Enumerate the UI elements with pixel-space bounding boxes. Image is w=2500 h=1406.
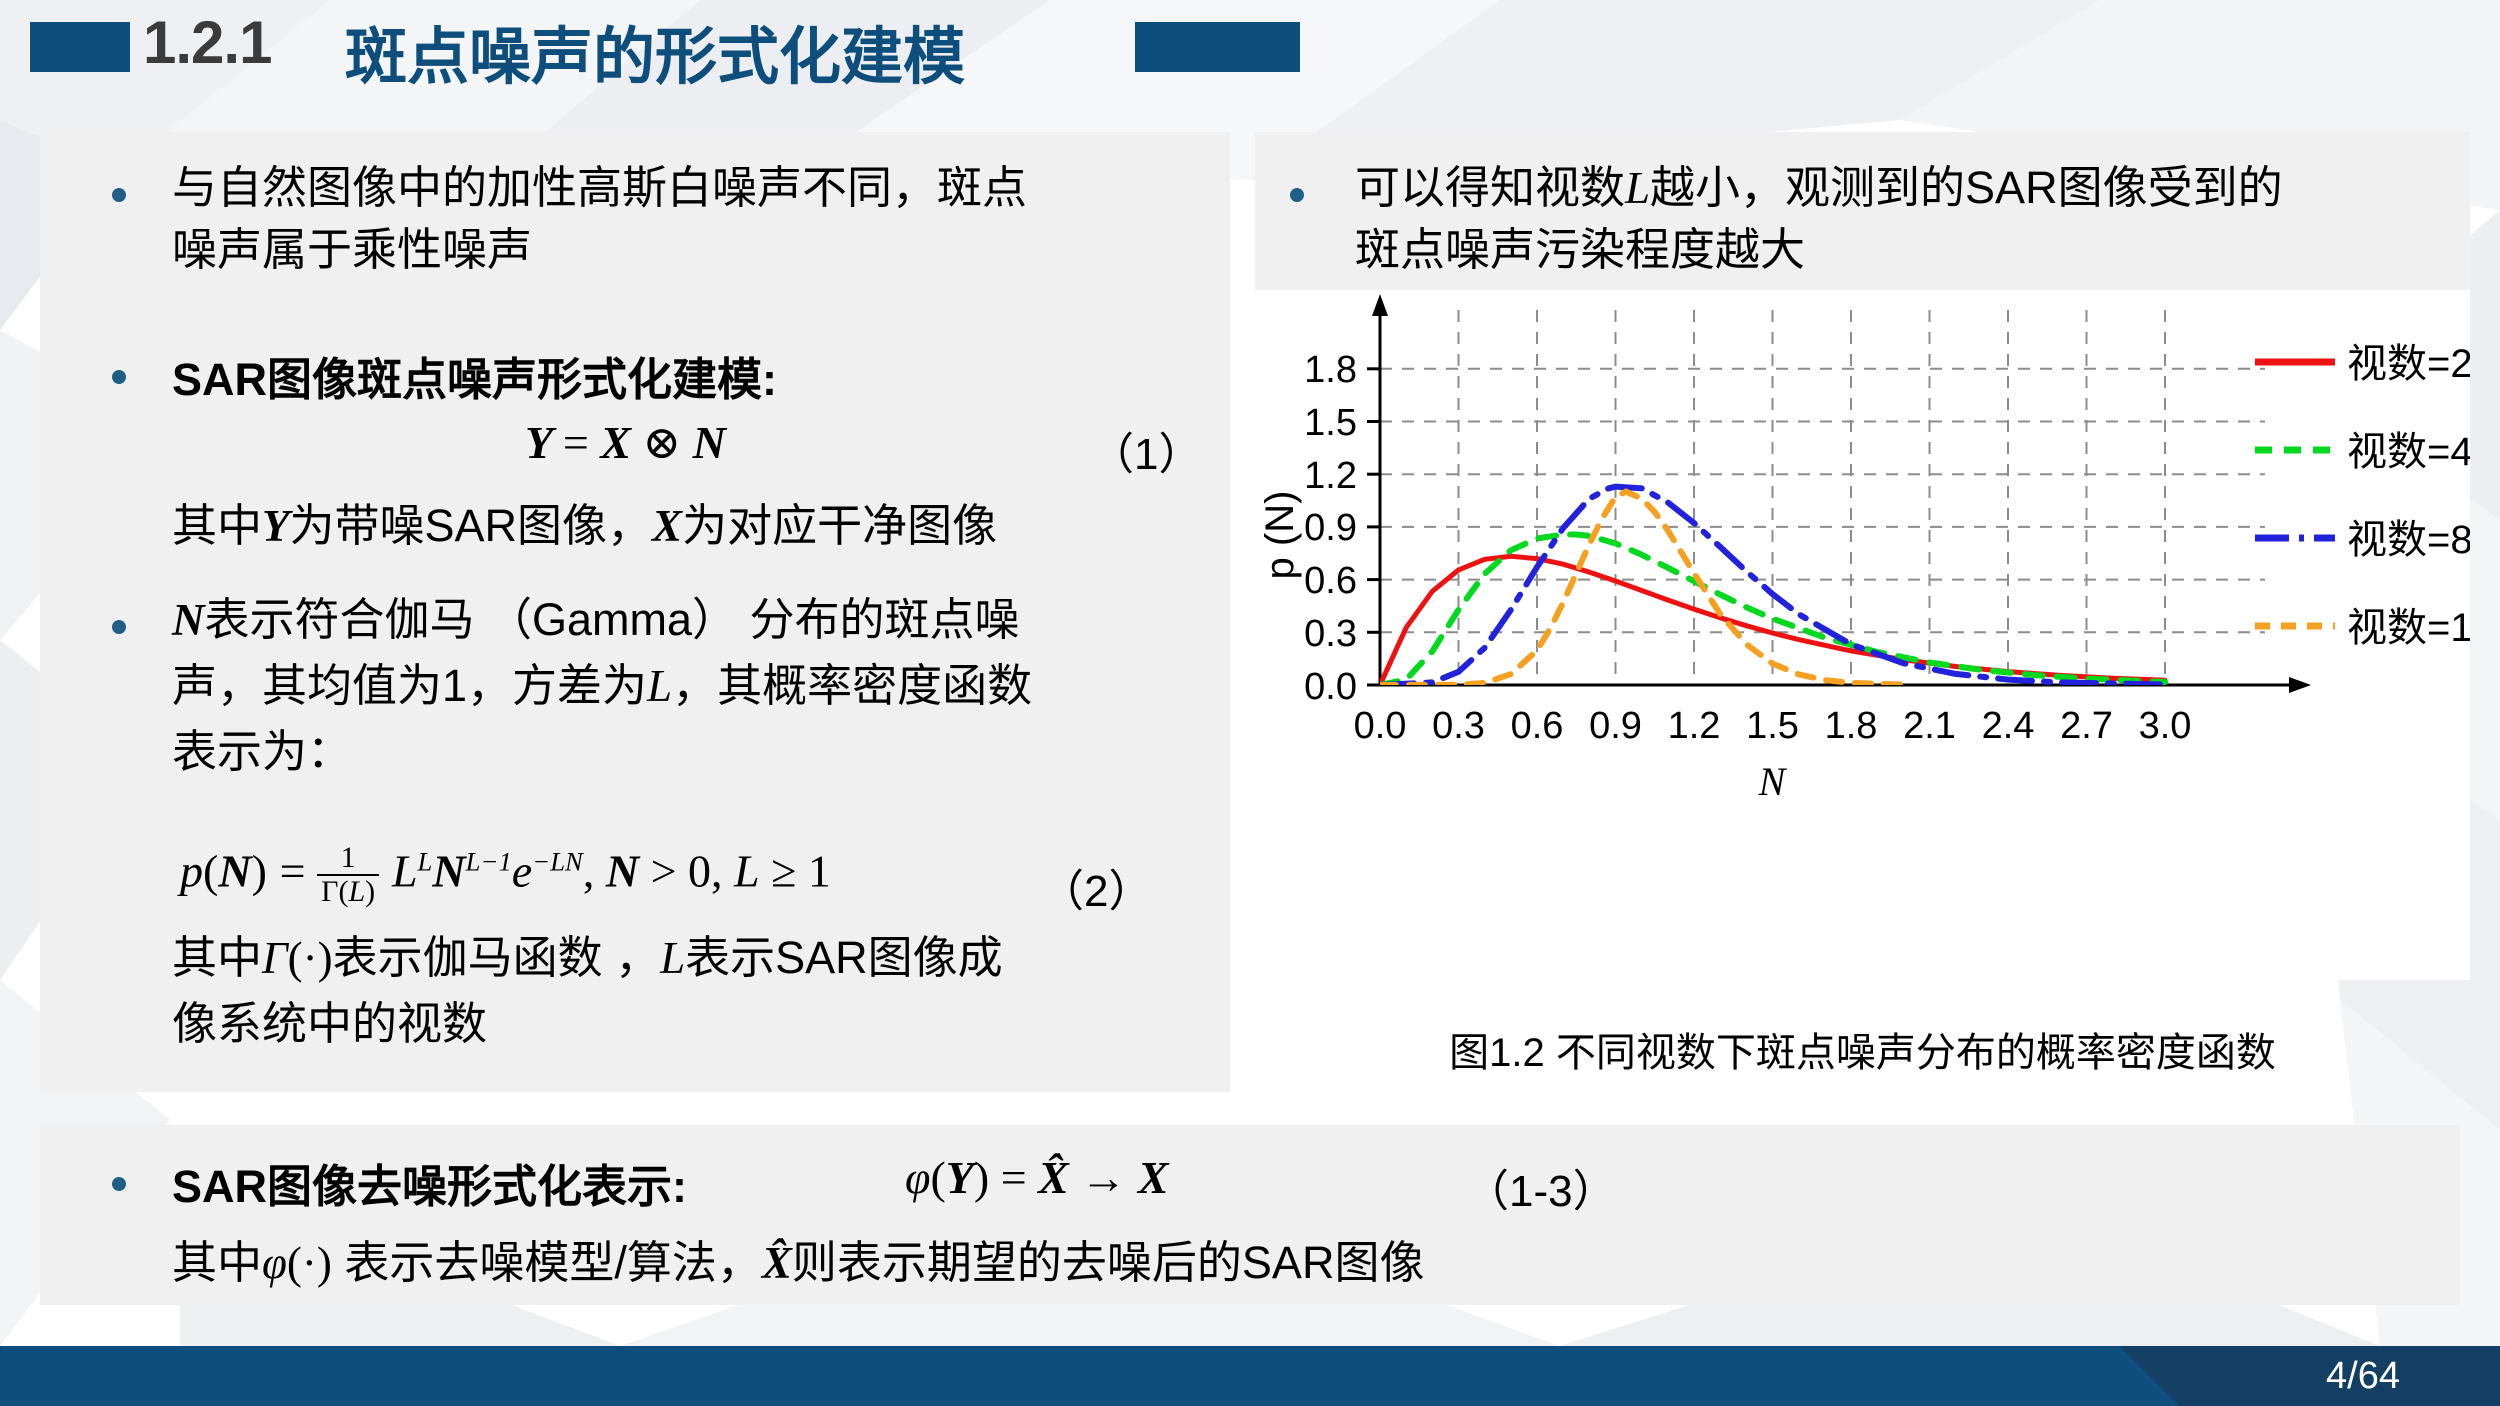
svg-text:0.6: 0.6	[1304, 560, 1357, 602]
svg-text:0.3: 0.3	[1304, 613, 1357, 655]
page-title: 斑点噪声的形式化建模	[345, 6, 965, 96]
svg-text:0.6: 0.6	[1511, 705, 1564, 747]
footer-shape	[0, 1346, 2500, 1406]
bullet-marker	[112, 1177, 126, 1191]
fraction-numerator: 1	[317, 842, 379, 874]
bullet-marker	[1290, 188, 1304, 202]
chart-xlabel: N	[1758, 759, 1788, 804]
legend-label-L8: 视数=8	[2347, 518, 2470, 562]
chart-ylabel: p (N)	[1258, 491, 1302, 580]
chart-axes	[1367, 294, 2311, 693]
left-bullet1-line1: 与自然图像中的加性高斯白噪声不同，斑点	[172, 160, 1027, 216]
formula-1: Y = X ⊗ N	[525, 415, 726, 469]
svg-text:0.9: 0.9	[1304, 507, 1357, 549]
svg-text:1.2: 1.2	[1668, 705, 1721, 747]
formula-2: p(N) = 1 Γ(L) LLNL−1e−LN, N > 0, L ≥ 1	[180, 842, 831, 907]
svg-text:1.5: 1.5	[1746, 705, 1799, 747]
svg-text:0.0: 0.0	[1304, 666, 1357, 708]
fraction-denominator: Γ(L)	[317, 874, 379, 908]
formula-1-3-number: （1-3）	[1465, 1155, 1617, 1219]
legend-label-L16: 视数=16	[2347, 606, 2470, 650]
svg-text:1.8: 1.8	[1825, 705, 1878, 747]
svg-text:0.0: 0.0	[1354, 705, 1407, 747]
title-decor-block-left	[30, 22, 130, 72]
svg-text:1.2: 1.2	[1304, 455, 1357, 497]
chart-ytick-labels: 0.0 0.3 0.6 0.9 1.2 1.5 1.8	[1304, 349, 1357, 708]
bullet-marker	[112, 370, 126, 384]
svg-text:0.9: 0.9	[1589, 705, 1642, 747]
right-bullet1-line2: 斑点噪声污染程度越大	[1355, 222, 1805, 278]
formula-2-number: （2）	[1040, 855, 1152, 919]
svg-text:1.5: 1.5	[1304, 402, 1357, 444]
left-bullet2-explain: 其中Y为带噪SAR图像，X为对应干净图像	[172, 498, 997, 554]
legend-label-L4: 视数=4	[2347, 430, 2470, 474]
svg-text:2.4: 2.4	[1982, 705, 2035, 747]
left-bullet3-line1: N表示符合伽马 （Gamma） 分布的斑点噪	[172, 592, 1020, 648]
slide-root: 1.2.1 斑点噪声的形式化建模 与自然图像中的加性高斯白噪声不同，斑点 噪声属…	[0, 0, 2500, 1406]
right-bullet1-line1: 可以得知视数L越小，观测到的SAR图像受到的	[1355, 160, 2283, 216]
left-bullet3-line3: 表示为：	[172, 724, 352, 780]
formula-2-fraction: 1 Γ(L)	[317, 842, 379, 907]
chart-svg: 0.0 0.3 0.6 0.9 1.2 1.5 1.8 0.0 0.3 0.6 …	[1255, 290, 2470, 980]
bottom-explain: 其中φ(·) 表示去噪模型/算法，X̂则表示期望的去噪后的SAR图像	[172, 1235, 1424, 1291]
formula-1-3: φ(Y) = X̂ → X	[905, 1150, 1169, 1204]
formula-1-number: （1）	[1090, 418, 1202, 482]
legend-label-L2: 视数=2	[2347, 342, 2470, 386]
bullet-marker	[112, 188, 126, 202]
left-bullet2-heading: SAR图像斑点噪声形式化建模:	[172, 343, 777, 408]
chart-caption: 图1.2 不同视数下斑点噪声分布的概率密度函数	[1255, 1020, 2470, 1078]
chart-legend: 视数=2 视数=4 视数=8 视数=16	[2255, 342, 2470, 650]
svg-text:2.1: 2.1	[1903, 705, 1956, 747]
title-number: 1.2.1	[143, 8, 271, 77]
svg-text:0.3: 0.3	[1432, 705, 1485, 747]
left-bullet3-explain-line2: 像系统中的视数	[172, 996, 487, 1052]
bottom-heading: SAR图像去噪形式化表示:	[172, 1150, 687, 1215]
chart-xtick-labels: 0.0 0.3 0.6 0.9 1.2 1.5 1.8 2.1 2.4 2.7 …	[1354, 705, 2192, 747]
svg-text:1.8: 1.8	[1304, 349, 1357, 391]
left-bullet3-line2: 声，其均值为1，方差为L，其概率密度函数	[172, 658, 1032, 714]
svg-text:3.0: 3.0	[2139, 705, 2192, 747]
bullet-marker	[112, 620, 126, 634]
svg-text:2.7: 2.7	[2060, 705, 2113, 747]
footer-bar	[0, 1346, 2500, 1406]
page-number: 4/64	[2326, 1355, 2400, 1398]
left-bullet3-explain-line1: 其中Γ(·)表示伽马函数 ，L表示SAR图像成	[172, 930, 1003, 986]
pdf-chart: 0.0 0.3 0.6 0.9 1.2 1.5 1.8 0.0 0.3 0.6 …	[1255, 290, 2470, 980]
title-decor-block-right	[1135, 22, 1300, 72]
left-bullet1-line2: 噪声属于乘性噪声	[172, 222, 532, 278]
